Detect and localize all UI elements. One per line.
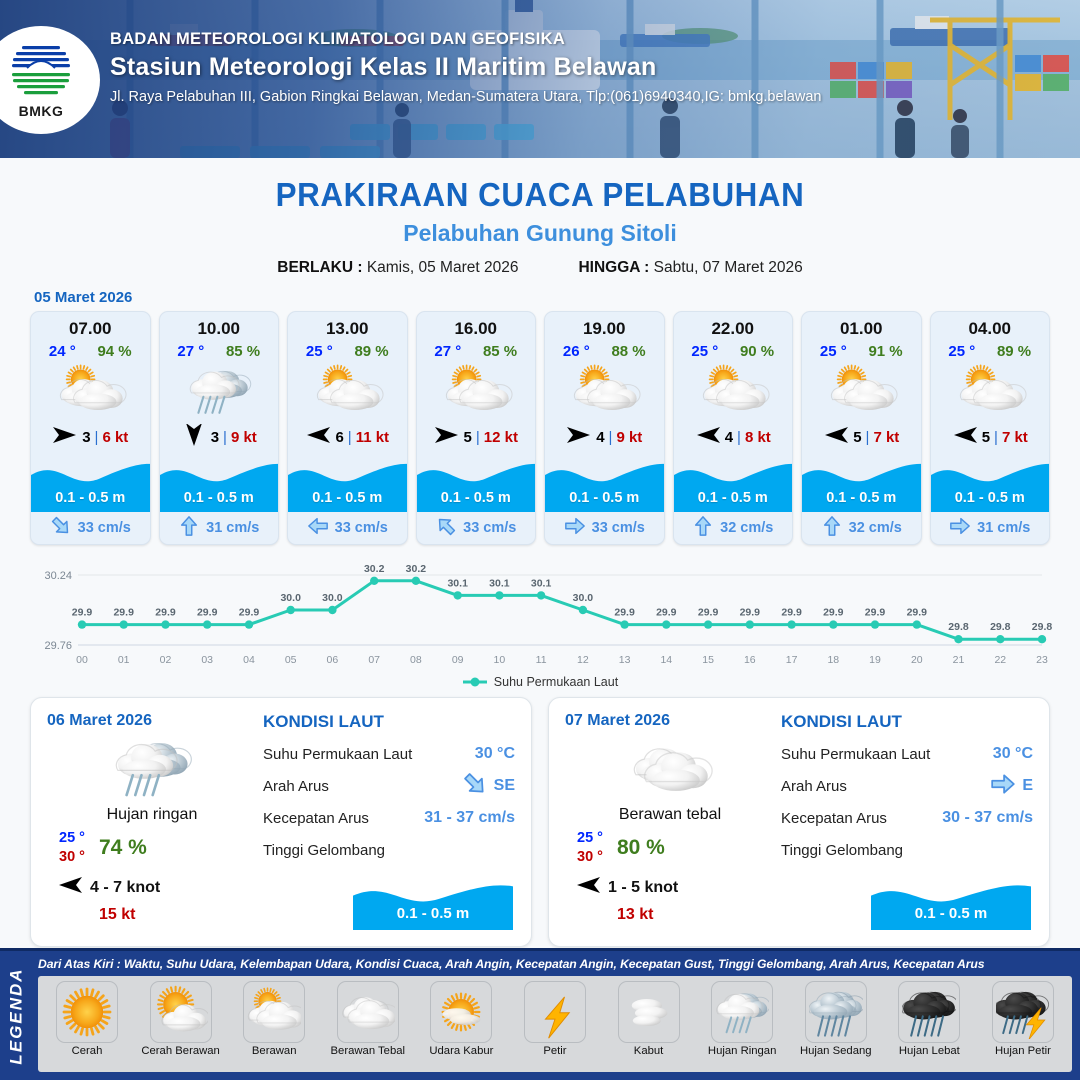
daily-temp-max: 30 ° xyxy=(59,849,85,865)
hingga-value: Sabtu, 07 Maret 2026 xyxy=(654,259,803,276)
gust-speed-value: 7 kt xyxy=(1002,429,1028,446)
svg-text:19: 19 xyxy=(869,654,881,666)
wind-speed-value: 6 xyxy=(335,429,343,446)
current-direction-arrow-icon xyxy=(178,515,200,541)
sea-condition-value: E xyxy=(1022,777,1033,795)
chart-legend: Suhu Permukaan Laut xyxy=(0,675,1080,689)
daily-forecast-panel: 06 Maret 2026 xyxy=(30,697,532,947)
hourly-date-label: 05 Maret 2026 xyxy=(34,289,1080,306)
legend-item: Kabut xyxy=(606,981,692,1070)
hourly-humidity: 94 % xyxy=(97,343,131,360)
svg-text:29.76: 29.76 xyxy=(44,640,72,652)
wind-direction-arrow-icon xyxy=(823,424,849,450)
wind-separator: | xyxy=(994,429,998,446)
daily-wind-range: 1 - 5 knot xyxy=(608,879,678,897)
sea-condition-value: 30 °C xyxy=(475,745,515,763)
svg-text:29.9: 29.9 xyxy=(823,607,844,619)
wave-height-block: 0.1 - 0.5 m xyxy=(545,456,664,512)
legend-item-label: Petir xyxy=(512,1045,598,1057)
wave-height-block: 0.1 - 0.5 m xyxy=(160,456,279,512)
svg-text:29.9: 29.9 xyxy=(698,607,719,619)
svg-text:11: 11 xyxy=(536,654,547,666)
wind-separator: | xyxy=(223,429,227,446)
wind-direction-arrow-icon xyxy=(57,874,83,901)
hourly-card: 01.00 25 ° 91 % xyxy=(801,311,922,545)
wind-speed-value: 5 xyxy=(982,429,990,446)
daily-wave-height: 0.1 - 0.5 m xyxy=(353,905,513,922)
legend-side-label: LEGENDA xyxy=(7,967,27,1064)
legend-item: Hujan Ringan xyxy=(699,981,785,1070)
wind-direction-arrow-icon xyxy=(434,424,460,450)
wave-height-value: 0.1 - 0.5 m xyxy=(931,490,1050,506)
current-speed-value: 32 cm/s xyxy=(849,520,902,536)
legend-item: Petir xyxy=(512,981,598,1070)
daily-weather-icon xyxy=(565,732,775,804)
legend-item-label: Hujan Ringan xyxy=(699,1045,785,1057)
legend-item-icon xyxy=(711,981,773,1043)
svg-text:15: 15 xyxy=(702,654,714,666)
chart-canvas: 30.2429.7629.90029.90129.90229.90329.904… xyxy=(24,553,1056,673)
sea-condition-row: Suhu Permukaan Laut 30 °C xyxy=(263,738,515,770)
legend-item-icon xyxy=(56,981,118,1043)
legend-item-icon xyxy=(805,981,867,1043)
bmkg-logo-text: BMKG xyxy=(4,103,78,119)
legend-side-label-wrap: LEGENDA xyxy=(0,951,34,1080)
sea-condition-value: 30 °C xyxy=(993,745,1033,763)
station-name: Stasiun Meteorologi Kelas II Maritim Bel… xyxy=(110,53,821,82)
legend-item-icon xyxy=(150,981,212,1043)
daily-wave-block: 0.1 - 0.5 m xyxy=(353,878,513,930)
page-header: BMKG BADAN METEOROLOGI KLIMATOLOGI DAN G… xyxy=(0,0,1080,158)
legend-item-icon xyxy=(430,981,492,1043)
sea-condition-label: Tinggi Gelombang xyxy=(263,842,515,859)
wave-height-value: 0.1 - 0.5 m xyxy=(417,490,536,506)
legend-items-row: Cerah Cerah Berawan xyxy=(38,976,1072,1072)
hourly-temperature: 27 ° xyxy=(177,343,204,360)
current-direction-arrow-icon xyxy=(307,515,329,541)
validity-row: BERLAKU : Kamis, 05 Maret 2026 HINGGA : … xyxy=(0,259,1080,277)
daily-wind-range: 4 - 7 knot xyxy=(90,879,160,897)
svg-text:22: 22 xyxy=(994,654,1006,666)
svg-text:29.8: 29.8 xyxy=(1032,621,1053,633)
current-direction-arrow-icon xyxy=(435,515,457,541)
hingga-label: HINGGA : xyxy=(578,259,649,276)
gust-speed-value: 6 kt xyxy=(102,429,128,446)
weather-condition-icon xyxy=(417,360,536,422)
legend-item-icon xyxy=(618,981,680,1043)
daily-gust-value: 13 kt xyxy=(565,906,775,924)
hourly-card: 19.00 26 ° 88 % xyxy=(544,311,665,545)
svg-text:29.9: 29.9 xyxy=(907,607,928,619)
wave-height-value: 0.1 - 0.5 m xyxy=(674,490,793,506)
wind-speed-value: 4 xyxy=(725,429,733,446)
svg-text:07: 07 xyxy=(368,654,380,666)
wave-height-block: 0.1 - 0.5 m xyxy=(802,456,921,512)
legend-item-label: Udara Kabur xyxy=(418,1045,504,1057)
svg-text:00: 00 xyxy=(76,654,88,666)
legend-item-label: Hujan Petir xyxy=(980,1045,1066,1057)
wind-separator: | xyxy=(348,429,352,446)
svg-text:29.9: 29.9 xyxy=(197,607,218,619)
legend-item-label: Hujan Sedang xyxy=(793,1045,879,1057)
wave-height-value: 0.1 - 0.5 m xyxy=(160,490,279,506)
sea-condition-row: Kecepatan Arus 31 - 37 cm/s xyxy=(263,802,515,834)
current-speed-value: 31 cm/s xyxy=(206,520,259,536)
sea-condition-value: SE xyxy=(494,777,515,795)
hourly-time: 19.00 xyxy=(545,312,664,339)
daily-date: 07 Maret 2026 xyxy=(565,712,775,730)
legend-item: Hujan Sedang xyxy=(793,981,879,1070)
hourly-card: 07.00 24 ° 94 % xyxy=(30,311,151,545)
sea-condition-value: 30 - 37 cm/s xyxy=(942,809,1033,827)
svg-text:18: 18 xyxy=(827,654,839,666)
svg-text:01: 01 xyxy=(118,654,130,666)
wind-direction-arrow-icon xyxy=(181,424,207,450)
hourly-card: 04.00 25 ° 89 % xyxy=(930,311,1051,545)
wind-separator: | xyxy=(866,429,870,446)
weather-condition-icon xyxy=(802,360,921,422)
berlaku-group: BERLAKU : Kamis, 05 Maret 2026 xyxy=(277,259,518,277)
sea-condition-row: Tinggi Gelombang xyxy=(263,834,515,866)
legend-item: Udara Kabur xyxy=(418,981,504,1070)
hourly-time: 01.00 xyxy=(802,312,921,339)
current-direction-arrow-icon xyxy=(50,515,72,541)
gust-speed-value: 9 kt xyxy=(616,429,642,446)
sea-condition-label: Suhu Permukaan Laut xyxy=(781,746,993,763)
legend-item-label: Hujan Lebat xyxy=(886,1045,972,1057)
legend-item: Hujan Petir xyxy=(980,981,1066,1070)
legend-item-icon xyxy=(243,981,305,1043)
svg-text:29.9: 29.9 xyxy=(865,607,886,619)
chart-legend-label: Suhu Permukaan Laut xyxy=(494,675,618,689)
wind-speed-value: 3 xyxy=(211,429,219,446)
sea-condition-row: Kecepatan Arus 30 - 37 cm/s xyxy=(781,802,1033,834)
hourly-card: 10.00 27 ° 85 % xyxy=(159,311,280,545)
legend-item: Berawan Tebal xyxy=(325,981,411,1070)
wind-direction-arrow-icon xyxy=(52,424,78,450)
daily-temp-max: 30 ° xyxy=(577,849,603,865)
current-direction-arrow-icon xyxy=(821,515,843,541)
chart-legend-marker-icon xyxy=(462,676,488,688)
current-speed-value: 31 cm/s xyxy=(977,520,1030,536)
station-address: Jl. Raya Pelabuhan III, Gabion Ringkai B… xyxy=(110,89,821,105)
wind-direction-arrow-icon xyxy=(952,424,978,450)
weather-condition-icon xyxy=(288,360,407,422)
hourly-humidity: 91 % xyxy=(868,343,902,360)
daily-humidity: 80 % xyxy=(617,836,665,860)
current-direction-arrow-icon xyxy=(462,771,488,801)
page-subtitle: Pelabuhan Gunung Sitoli xyxy=(0,220,1080,247)
gust-speed-value: 7 kt xyxy=(873,429,899,446)
sea-condition-label: Kecepatan Arus xyxy=(263,810,424,827)
svg-text:30.1: 30.1 xyxy=(447,577,468,589)
svg-text:30.2: 30.2 xyxy=(406,563,427,575)
hourly-temperature: 25 ° xyxy=(948,343,975,360)
daily-condition-label: Hujan ringan xyxy=(47,806,257,824)
svg-text:06: 06 xyxy=(327,654,339,666)
hourly-card: 16.00 27 ° 85 % xyxy=(416,311,537,545)
sea-condition-title: KONDISI LAUT xyxy=(781,712,1033,732)
svg-text:13: 13 xyxy=(619,654,631,666)
svg-text:03: 03 xyxy=(201,654,213,666)
hourly-temperature: 25 ° xyxy=(820,343,847,360)
legend-item-label: Cerah xyxy=(44,1045,130,1057)
current-direction-arrow-icon xyxy=(564,515,586,541)
svg-text:29.9: 29.9 xyxy=(656,607,677,619)
hourly-humidity: 85 % xyxy=(483,343,517,360)
weather-condition-icon xyxy=(674,360,793,422)
legend-item-label: Cerah Berawan xyxy=(138,1045,224,1057)
current-speed-value: 33 cm/s xyxy=(335,520,388,536)
weather-condition-icon xyxy=(31,360,150,422)
svg-text:29.9: 29.9 xyxy=(155,607,176,619)
wind-direction-arrow-icon xyxy=(575,874,601,901)
wind-separator: | xyxy=(609,429,613,446)
sea-condition-label: Tinggi Gelombang xyxy=(781,842,1033,859)
weather-condition-icon xyxy=(931,360,1050,422)
hourly-card: 13.00 25 ° 89 % xyxy=(287,311,408,545)
wind-speed-value: 4 xyxy=(596,429,604,446)
sea-condition-title: KONDISI LAUT xyxy=(263,712,515,732)
svg-text:21: 21 xyxy=(953,654,965,666)
daily-forecast-row: 06 Maret 2026 xyxy=(0,689,1080,947)
wind-separator: | xyxy=(476,429,480,446)
hourly-time: 07.00 xyxy=(31,312,150,339)
sea-condition-label: Kecepatan Arus xyxy=(781,810,942,827)
svg-text:14: 14 xyxy=(660,654,672,666)
svg-text:02: 02 xyxy=(160,654,172,666)
svg-text:30.1: 30.1 xyxy=(489,577,510,589)
hourly-temperature: 26 ° xyxy=(563,343,590,360)
legend-item: Cerah xyxy=(44,981,130,1070)
sea-condition-row: Tinggi Gelombang xyxy=(781,834,1033,866)
wave-height-block: 0.1 - 0.5 m xyxy=(674,456,793,512)
hourly-temperature: 25 ° xyxy=(306,343,333,360)
legend-item-icon xyxy=(524,981,586,1043)
svg-text:05: 05 xyxy=(285,654,297,666)
legend-item-icon xyxy=(992,981,1054,1043)
bmkg-logo-icon xyxy=(8,41,74,97)
gust-speed-value: 11 kt xyxy=(356,429,389,446)
svg-text:29.9: 29.9 xyxy=(239,607,260,619)
hourly-time: 22.00 xyxy=(674,312,793,339)
svg-text:08: 08 xyxy=(410,654,422,666)
svg-text:12: 12 xyxy=(577,654,589,666)
daily-humidity: 74 % xyxy=(99,836,147,860)
svg-text:29.9: 29.9 xyxy=(72,607,93,619)
wind-separator: | xyxy=(95,429,99,446)
berlaku-value: Kamis, 05 Maret 2026 xyxy=(367,259,519,276)
sea-surface-temperature-chart: 30.2429.7629.90029.90129.90229.90329.904… xyxy=(24,553,1056,673)
daily-temp-min: 25 ° xyxy=(59,830,85,846)
wind-separator: | xyxy=(737,429,741,446)
daily-date: 06 Maret 2026 xyxy=(47,712,257,730)
wind-direction-arrow-icon xyxy=(305,424,331,450)
current-speed-value: 33 cm/s xyxy=(463,520,516,536)
wave-height-value: 0.1 - 0.5 m xyxy=(31,490,150,506)
legend-note: Dari Atas Kiri : Waktu, Suhu Udara, Kele… xyxy=(38,957,1072,971)
hourly-humidity: 88 % xyxy=(611,343,645,360)
sea-condition-label: Arah Arus xyxy=(263,778,462,795)
svg-text:23: 23 xyxy=(1036,654,1048,666)
hourly-time: 10.00 xyxy=(160,312,279,339)
daily-temp-min: 25 ° xyxy=(577,830,603,846)
hourly-humidity: 89 % xyxy=(997,343,1031,360)
sea-condition-label: Arah Arus xyxy=(781,778,990,795)
wave-height-value: 0.1 - 0.5 m xyxy=(802,490,921,506)
svg-text:29.9: 29.9 xyxy=(614,607,635,619)
sea-condition-value: 31 - 37 cm/s xyxy=(424,809,515,827)
current-speed-value: 33 cm/s xyxy=(78,520,131,536)
wave-height-block: 0.1 - 0.5 m xyxy=(31,456,150,512)
legend-bar: LEGENDA Dari Atas Kiri : Waktu, Suhu Uda… xyxy=(0,948,1080,1080)
hourly-temperature: 24 ° xyxy=(49,343,76,360)
svg-text:30.2: 30.2 xyxy=(364,563,385,575)
page-title: PRAKIRAAN CUACA PELABUHAN xyxy=(27,176,1053,214)
wave-height-value: 0.1 - 0.5 m xyxy=(545,490,664,506)
daily-gust-value: 15 kt xyxy=(47,906,257,924)
title-section: PRAKIRAAN CUACA PELABUHAN Pelabuhan Gunu… xyxy=(0,158,1080,277)
current-speed-value: 33 cm/s xyxy=(592,520,645,536)
hourly-time: 16.00 xyxy=(417,312,536,339)
hourly-card: 22.00 25 ° 90 % xyxy=(673,311,794,545)
wave-height-block: 0.1 - 0.5 m xyxy=(417,456,536,512)
hourly-time: 04.00 xyxy=(931,312,1050,339)
svg-text:17: 17 xyxy=(786,654,798,666)
sea-condition-row: Arah Arus E xyxy=(781,770,1033,802)
legend-item-label: Berawan xyxy=(231,1045,317,1057)
svg-text:30.0: 30.0 xyxy=(322,592,343,604)
wind-speed-value: 3 xyxy=(82,429,90,446)
sea-condition-row: Suhu Permukaan Laut 30 °C xyxy=(781,738,1033,770)
svg-text:29.8: 29.8 xyxy=(990,621,1011,633)
sea-condition-label: Suhu Permukaan Laut xyxy=(263,746,475,763)
svg-text:30.24: 30.24 xyxy=(44,570,72,582)
hourly-humidity: 89 % xyxy=(354,343,388,360)
svg-text:29.9: 29.9 xyxy=(113,607,134,619)
hourly-temperature: 27 ° xyxy=(434,343,461,360)
wave-height-block: 0.1 - 0.5 m xyxy=(931,456,1050,512)
svg-text:04: 04 xyxy=(243,654,255,666)
current-direction-arrow-icon xyxy=(949,515,971,541)
legend-item-icon xyxy=(898,981,960,1043)
hourly-humidity: 85 % xyxy=(226,343,260,360)
current-speed-value: 32 cm/s xyxy=(720,520,773,536)
organization-name: BADAN METEOROLOGI KLIMATOLOGI DAN GEOFIS… xyxy=(110,30,821,49)
weather-condition-icon xyxy=(545,360,664,422)
svg-text:30.1: 30.1 xyxy=(531,577,552,589)
hourly-forecast-row: 07.00 24 ° 94 % xyxy=(0,311,1080,545)
wave-height-block: 0.1 - 0.5 m xyxy=(288,456,407,512)
daily-forecast-panel: 07 Maret 2026 xyxy=(548,697,1050,947)
wind-direction-arrow-icon xyxy=(566,424,592,450)
legend-item: Cerah Berawan xyxy=(138,981,224,1070)
svg-text:16: 16 xyxy=(744,654,756,666)
wind-speed-value: 5 xyxy=(464,429,472,446)
hourly-time: 13.00 xyxy=(288,312,407,339)
wind-direction-arrow-icon xyxy=(695,424,721,450)
daily-condition-label: Berawan tebal xyxy=(565,806,775,824)
gust-speed-value: 12 kt xyxy=(484,429,518,446)
wave-height-value: 0.1 - 0.5 m xyxy=(288,490,407,506)
current-direction-arrow-icon xyxy=(990,771,1016,801)
sea-condition-row: Arah Arus SE xyxy=(263,770,515,802)
weather-condition-icon xyxy=(160,360,279,422)
svg-text:29.9: 29.9 xyxy=(740,607,761,619)
daily-wave-block: 0.1 - 0.5 m xyxy=(871,878,1031,930)
svg-text:10: 10 xyxy=(494,654,506,666)
svg-text:30.0: 30.0 xyxy=(573,592,594,604)
legend-item: Hujan Lebat xyxy=(886,981,972,1070)
legend-item-label: Kabut xyxy=(606,1045,692,1057)
legend-item: Berawan xyxy=(231,981,317,1070)
wind-speed-value: 5 xyxy=(853,429,861,446)
hingga-group: HINGGA : Sabtu, 07 Maret 2026 xyxy=(578,259,802,277)
legend-item-icon xyxy=(337,981,399,1043)
gust-speed-value: 8 kt xyxy=(745,429,771,446)
hourly-humidity: 90 % xyxy=(740,343,774,360)
svg-text:29.8: 29.8 xyxy=(948,621,969,633)
svg-text:20: 20 xyxy=(911,654,923,666)
legend-item-label: Berawan Tebal xyxy=(325,1045,411,1057)
hourly-temperature: 25 ° xyxy=(691,343,718,360)
daily-wave-height: 0.1 - 0.5 m xyxy=(871,905,1031,922)
svg-text:09: 09 xyxy=(452,654,464,666)
daily-weather-icon xyxy=(47,732,257,804)
berlaku-label: BERLAKU : xyxy=(277,259,362,276)
svg-text:30.0: 30.0 xyxy=(280,592,301,604)
svg-text:29.9: 29.9 xyxy=(781,607,802,619)
gust-speed-value: 9 kt xyxy=(231,429,257,446)
current-direction-arrow-icon xyxy=(692,515,714,541)
